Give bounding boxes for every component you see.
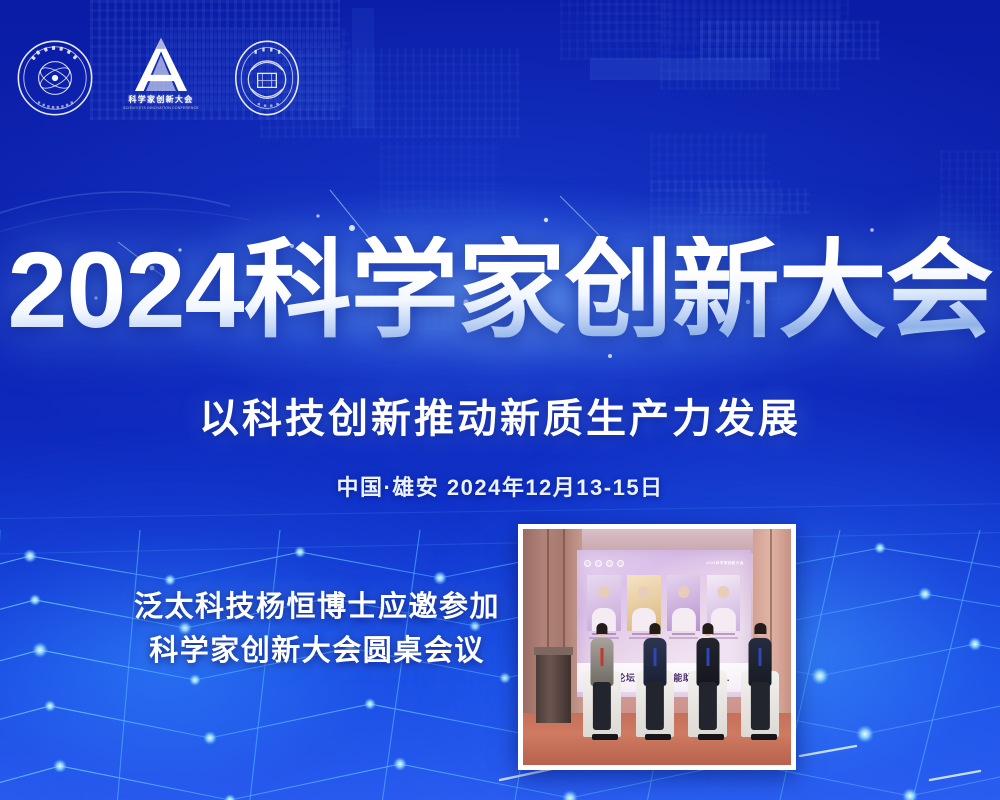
panelist (635, 623, 675, 736)
screen-logo-icons (584, 560, 624, 567)
caption-line-2: 科学家创新大会圆桌会议 (112, 630, 522, 674)
screen-logo-icon (584, 560, 591, 567)
screen-brand-text: 2024科学家创新大会 (706, 561, 744, 566)
podium-top (534, 647, 573, 655)
conference-poster: 科学家创新大会 SCIENTISTS INNOVATION CONFERENCE (0, 0, 1000, 800)
screen-logo-icon (606, 560, 613, 567)
screen-topbar: 2024科学家创新大会 (584, 558, 744, 570)
triangle-logo-subwordmark: SCIENTISTS INNOVATION CONFERENCE (123, 106, 199, 110)
panelist (741, 623, 781, 736)
panelist-legs (751, 682, 769, 730)
panelist-shoe (708, 734, 725, 740)
title-block: 2024科学家创新大会 (0, 236, 1000, 344)
panelist-row (582, 623, 780, 736)
panelist-hair (702, 623, 713, 633)
logo-bar: 科学家创新大会 SCIENTISTS INNOVATION CONFERENCE (16, 36, 306, 120)
institute-oval-seal-logo (228, 39, 306, 117)
event-photo-image: 2024科学家创新大会 (523, 529, 791, 765)
panelist-legs (698, 682, 716, 730)
panelist-badge (706, 648, 709, 666)
panelist-shoe (655, 734, 672, 740)
triangle-a-icon (130, 36, 192, 94)
panelist-hair (649, 623, 660, 633)
cast-seal-logo (16, 39, 94, 117)
panelist (582, 623, 622, 736)
podium (536, 652, 571, 723)
panelist (688, 623, 728, 736)
caption-line-1: 泛太科技杨恒博士应邀参加 (112, 586, 522, 630)
event-dateline: 中国·雄安 2024年12月13-15日 (0, 470, 1000, 502)
event-caption: 泛太科技杨恒博士应邀参加 科学家创新大会圆桌会议 (112, 586, 522, 673)
event-photo: 2024科学家创新大会 (518, 524, 796, 770)
screen-logo-icon (595, 560, 602, 567)
panelist-badge (759, 648, 762, 666)
panelist-badge (600, 648, 603, 666)
panelist-hair (755, 623, 766, 633)
conference-triangle-logo: 科学家创新大会 SCIENTISTS INNOVATION CONFERENCE (118, 36, 204, 120)
triangle-logo-wordmark: 科学家创新大会 (128, 96, 193, 104)
screen-logo-icon (617, 560, 624, 567)
panelist-hair (596, 623, 607, 633)
page-title: 2024科学家创新大会 (0, 236, 1000, 344)
panelist-legs (593, 682, 611, 730)
panelist-shoe (602, 734, 619, 740)
panelist-shoe (760, 734, 777, 740)
page-subtitle: 以科技创新推动新质生产力发展 (0, 386, 1000, 444)
panelist-badge (653, 648, 656, 666)
panelist-legs (646, 682, 664, 730)
